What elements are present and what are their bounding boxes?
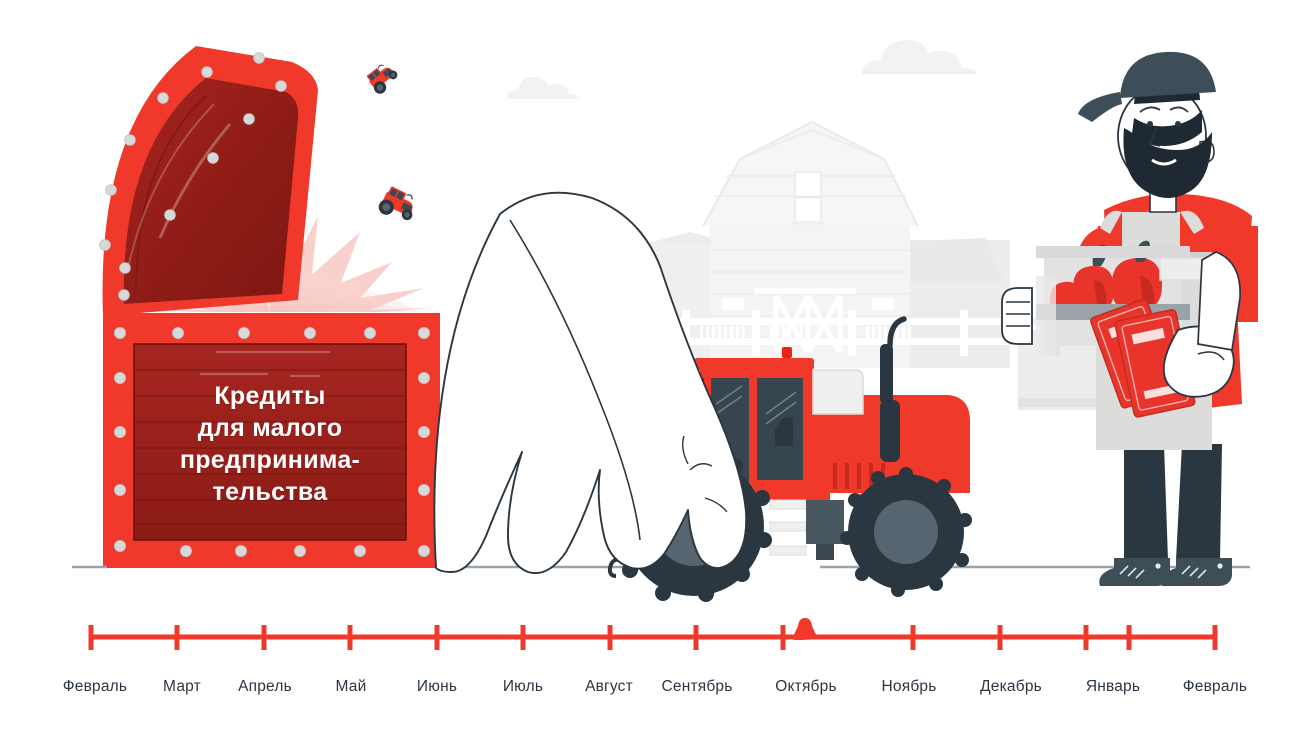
timeline-month-7[interactable]: Август bbox=[585, 678, 633, 696]
cloud-left bbox=[507, 77, 580, 99]
timeline-month-2[interactable]: Март bbox=[163, 678, 201, 696]
timeline-month-6[interactable]: Июль bbox=[503, 678, 543, 696]
timeline-month-1[interactable]: Февраль bbox=[63, 678, 127, 696]
timeline-month-4[interactable]: Май bbox=[336, 678, 367, 696]
farmer-character bbox=[1002, 52, 1258, 586]
timeline-month-5[interactable]: Июнь bbox=[417, 678, 457, 696]
timeline-month-10[interactable]: Ноябрь bbox=[882, 678, 937, 696]
timeline-month-8[interactable]: Сентябрь bbox=[661, 678, 732, 696]
cloud-right bbox=[862, 40, 976, 74]
timeline-month-labels: ФевральМартАпрельМайИюньИюльАвгустСентяб… bbox=[0, 678, 1310, 708]
illustration-canvas: Кредиты для малого предпринима- тельства… bbox=[0, 0, 1310, 743]
flying-tractor-1 bbox=[364, 60, 401, 96]
timeline-month-3[interactable]: Апрель bbox=[238, 678, 292, 696]
timeline-month-11[interactable]: Декабрь bbox=[980, 678, 1042, 696]
timeline-month-9[interactable]: Октябрь bbox=[775, 678, 836, 696]
timeline-month-13[interactable]: Февраль bbox=[1183, 678, 1247, 696]
flying-tractor-3 bbox=[376, 185, 420, 226]
gift-crate-body bbox=[103, 313, 440, 568]
crate-lid bbox=[100, 46, 318, 316]
timeline: ФевральМартАпрельМайИюньИюльАвгустСентяб… bbox=[0, 600, 1310, 743]
timeline-month-12[interactable]: Январь bbox=[1086, 678, 1140, 696]
